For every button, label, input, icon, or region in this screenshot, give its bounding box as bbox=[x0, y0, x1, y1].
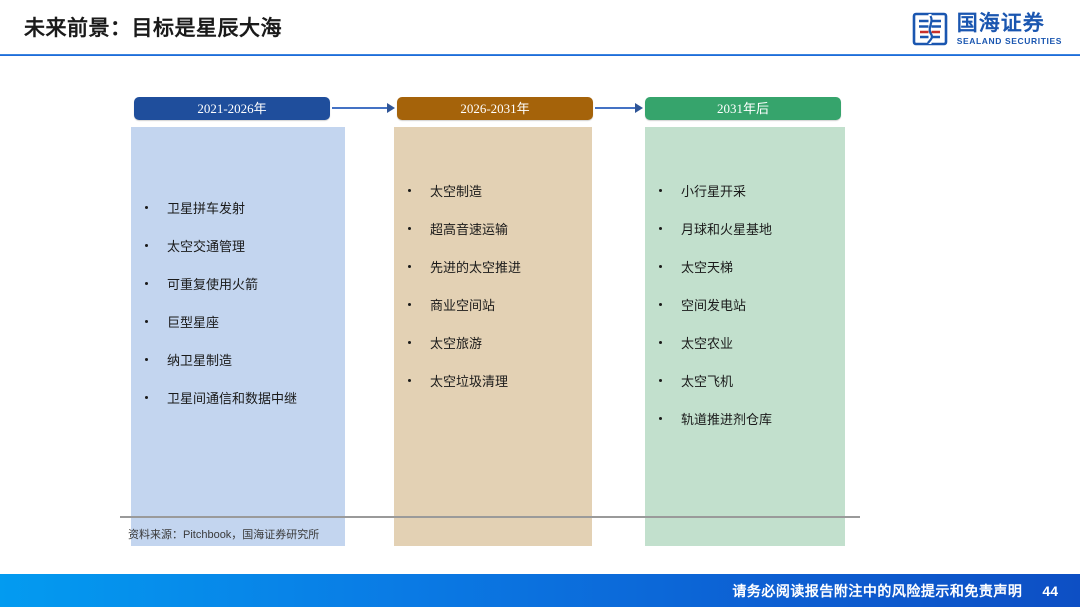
arrow-head bbox=[387, 103, 395, 113]
list-item[interactable]: 太空制造 bbox=[394, 183, 584, 200]
bullet-dot-icon bbox=[408, 227, 411, 230]
list-item-label: 商业空间站 bbox=[430, 298, 495, 313]
bullet-dot-icon bbox=[145, 282, 148, 285]
list-item-label: 纳卫星制造 bbox=[167, 353, 232, 368]
list-item-label: 空间发电站 bbox=[681, 298, 746, 313]
phase-panel-2: 太空制造超高音速运输先进的太空推进商业空间站太空旅游太空垃圾清理 bbox=[394, 127, 592, 546]
list-item-label: 太空垃圾清理 bbox=[430, 374, 508, 389]
flow-arrow-icon-1 bbox=[332, 102, 395, 114]
list-item[interactable]: 太空天梯 bbox=[645, 259, 837, 276]
list-item[interactable]: 可重复使用火箭 bbox=[131, 276, 337, 293]
list-item[interactable]: 纳卫星制造 bbox=[131, 352, 337, 369]
list-item-label: 小行星开采 bbox=[681, 184, 746, 199]
flow-arrow-icon-2 bbox=[595, 102, 643, 114]
bullet-dot-icon bbox=[659, 341, 662, 344]
bullet-dot-icon bbox=[145, 206, 148, 209]
list-item[interactable]: 空间发电站 bbox=[645, 297, 837, 314]
logo-name-cn: 国海证券 bbox=[957, 13, 1062, 34]
footer-disclaimer: 请务必阅读报告附注中的风险提示和免责声明 bbox=[732, 581, 1022, 601]
arrow-shaft bbox=[332, 107, 388, 109]
list-item[interactable]: 太空垃圾清理 bbox=[394, 373, 584, 390]
list-item-label: 太空制造 bbox=[430, 184, 482, 199]
list-item-label: 太空旅游 bbox=[430, 336, 482, 351]
phase-header-2[interactable]: 2026-2031年 bbox=[397, 97, 593, 120]
list-item[interactable]: 卫星间通信和数据中继 bbox=[131, 390, 337, 407]
list-item[interactable]: 小行星开采 bbox=[645, 183, 837, 200]
list-item-label: 先进的太空推进 bbox=[430, 260, 521, 275]
page-title: 未来前景：目标是星辰大海 bbox=[24, 12, 282, 42]
bullet-dot-icon bbox=[145, 320, 148, 323]
list-item[interactable]: 巨型星座 bbox=[131, 314, 337, 331]
bullet-dot-icon bbox=[659, 303, 662, 306]
list-item-label: 可重复使用火箭 bbox=[167, 277, 258, 292]
list-item-label: 太空天梯 bbox=[681, 260, 733, 275]
source-divider bbox=[120, 516, 860, 518]
slide-header: 未来前景：目标是星辰大海 国海证券 SEALAND SECURITIES bbox=[0, 0, 1080, 56]
list-item[interactable]: 太空飞机 bbox=[645, 373, 837, 390]
company-logo: 国海证券 SEALAND SECURITIES bbox=[911, 10, 1062, 48]
bullet-dot-icon bbox=[145, 244, 148, 247]
list-item-label: 太空飞机 bbox=[681, 374, 733, 389]
bullet-dot-icon bbox=[408, 189, 411, 192]
list-item-label: 太空交通管理 bbox=[167, 239, 245, 254]
bullet-dot-icon bbox=[408, 379, 411, 382]
list-item[interactable]: 轨道推进剂仓库 bbox=[645, 411, 837, 428]
list-item[interactable]: 超高音速运输 bbox=[394, 221, 584, 238]
slide-content: 2021-2026年卫星拼车发射太空交通管理可重复使用火箭巨型星座纳卫星制造卫星… bbox=[0, 56, 1080, 571]
phase-panel-3: 小行星开采月球和火星基地太空天梯空间发电站太空农业太空飞机轨道推进剂仓库 bbox=[645, 127, 845, 546]
bullet-dot-icon bbox=[408, 303, 411, 306]
list-item-label: 轨道推进剂仓库 bbox=[681, 412, 772, 427]
list-item-label: 卫星拼车发射 bbox=[167, 201, 245, 216]
sealand-emblem-icon bbox=[911, 10, 949, 48]
arrow-shaft bbox=[595, 107, 636, 109]
slide-footer: 请务必阅读报告附注中的风险提示和免责声明 44 bbox=[0, 574, 1080, 607]
bullet-dot-icon bbox=[659, 189, 662, 192]
phase-header-1[interactable]: 2021-2026年 bbox=[134, 97, 330, 120]
bullet-dot-icon bbox=[659, 417, 662, 420]
list-item-label: 卫星间通信和数据中继 bbox=[167, 391, 297, 406]
bullet-dot-icon bbox=[659, 227, 662, 230]
list-item[interactable]: 太空交通管理 bbox=[131, 238, 337, 255]
list-item-label: 太空农业 bbox=[681, 336, 733, 351]
bullet-dot-icon bbox=[408, 341, 411, 344]
bullet-dot-icon bbox=[145, 396, 148, 399]
bullet-dot-icon bbox=[145, 358, 148, 361]
logo-name-en: SEALAND SECURITIES bbox=[957, 37, 1062, 46]
list-item-label: 巨型星座 bbox=[167, 315, 219, 330]
list-item[interactable]: 月球和火星基地 bbox=[645, 221, 837, 238]
page-number: 44 bbox=[1042, 583, 1058, 599]
list-item[interactable]: 卫星拼车发射 bbox=[131, 200, 337, 217]
bullet-dot-icon bbox=[659, 379, 662, 382]
list-item[interactable]: 先进的太空推进 bbox=[394, 259, 584, 276]
list-item[interactable]: 太空旅游 bbox=[394, 335, 584, 352]
phase-panel-1: 卫星拼车发射太空交通管理可重复使用火箭巨型星座纳卫星制造卫星间通信和数据中继 bbox=[131, 127, 345, 546]
phase-header-3[interactable]: 2031年后 bbox=[645, 97, 841, 120]
list-item-label: 月球和火星基地 bbox=[681, 222, 772, 237]
bullet-dot-icon bbox=[659, 265, 662, 268]
source-note: 资料来源：Pitchbook，国海证券研究所 bbox=[128, 526, 319, 542]
list-item[interactable]: 商业空间站 bbox=[394, 297, 584, 314]
list-item[interactable]: 太空农业 bbox=[645, 335, 837, 352]
arrow-head bbox=[635, 103, 643, 113]
logo-text: 国海证券 SEALAND SECURITIES bbox=[957, 13, 1062, 46]
list-item-label: 超高音速运输 bbox=[430, 222, 508, 237]
bullet-dot-icon bbox=[408, 265, 411, 268]
